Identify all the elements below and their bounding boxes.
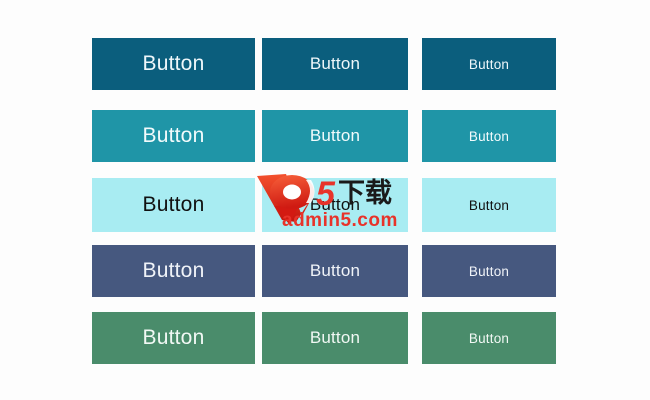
button-r4-c2[interactable]: Button <box>422 312 556 364</box>
button-r2-c1[interactable]: Button <box>262 178 408 232</box>
button-r0-c1[interactable]: Button <box>262 38 408 90</box>
button-r3-c2[interactable]: Button <box>422 245 556 297</box>
button-r1-c2[interactable]: Button <box>422 110 556 162</box>
screenshot-canvas: Button Button Button Button Button Butto… <box>0 0 650 400</box>
button-r1-c1[interactable]: Button <box>262 110 408 162</box>
button-r3-c1[interactable]: Button <box>262 245 408 297</box>
button-r4-c1[interactable]: Button <box>262 312 408 364</box>
button-r0-c0[interactable]: Button <box>92 38 255 90</box>
button-r1-c0[interactable]: Button <box>92 110 255 162</box>
button-row-teal: Button Button Button <box>0 110 650 164</box>
button-r0-c2[interactable]: Button <box>422 38 556 90</box>
button-r2-c2[interactable]: Button <box>422 178 556 232</box>
button-r2-c0[interactable]: Button <box>92 178 255 232</box>
button-row-light-cyan: Button Button Button <box>0 178 650 232</box>
button-grid: Button Button Button Button Button Butto… <box>0 0 650 400</box>
button-row-slate-blue: Button Button Button <box>0 245 650 299</box>
button-r4-c0[interactable]: Button <box>92 312 255 364</box>
button-row-dark-teal: Button Button Button <box>0 38 650 92</box>
button-r3-c0[interactable]: Button <box>92 245 255 297</box>
button-row-green: Button Button Button <box>0 312 650 366</box>
